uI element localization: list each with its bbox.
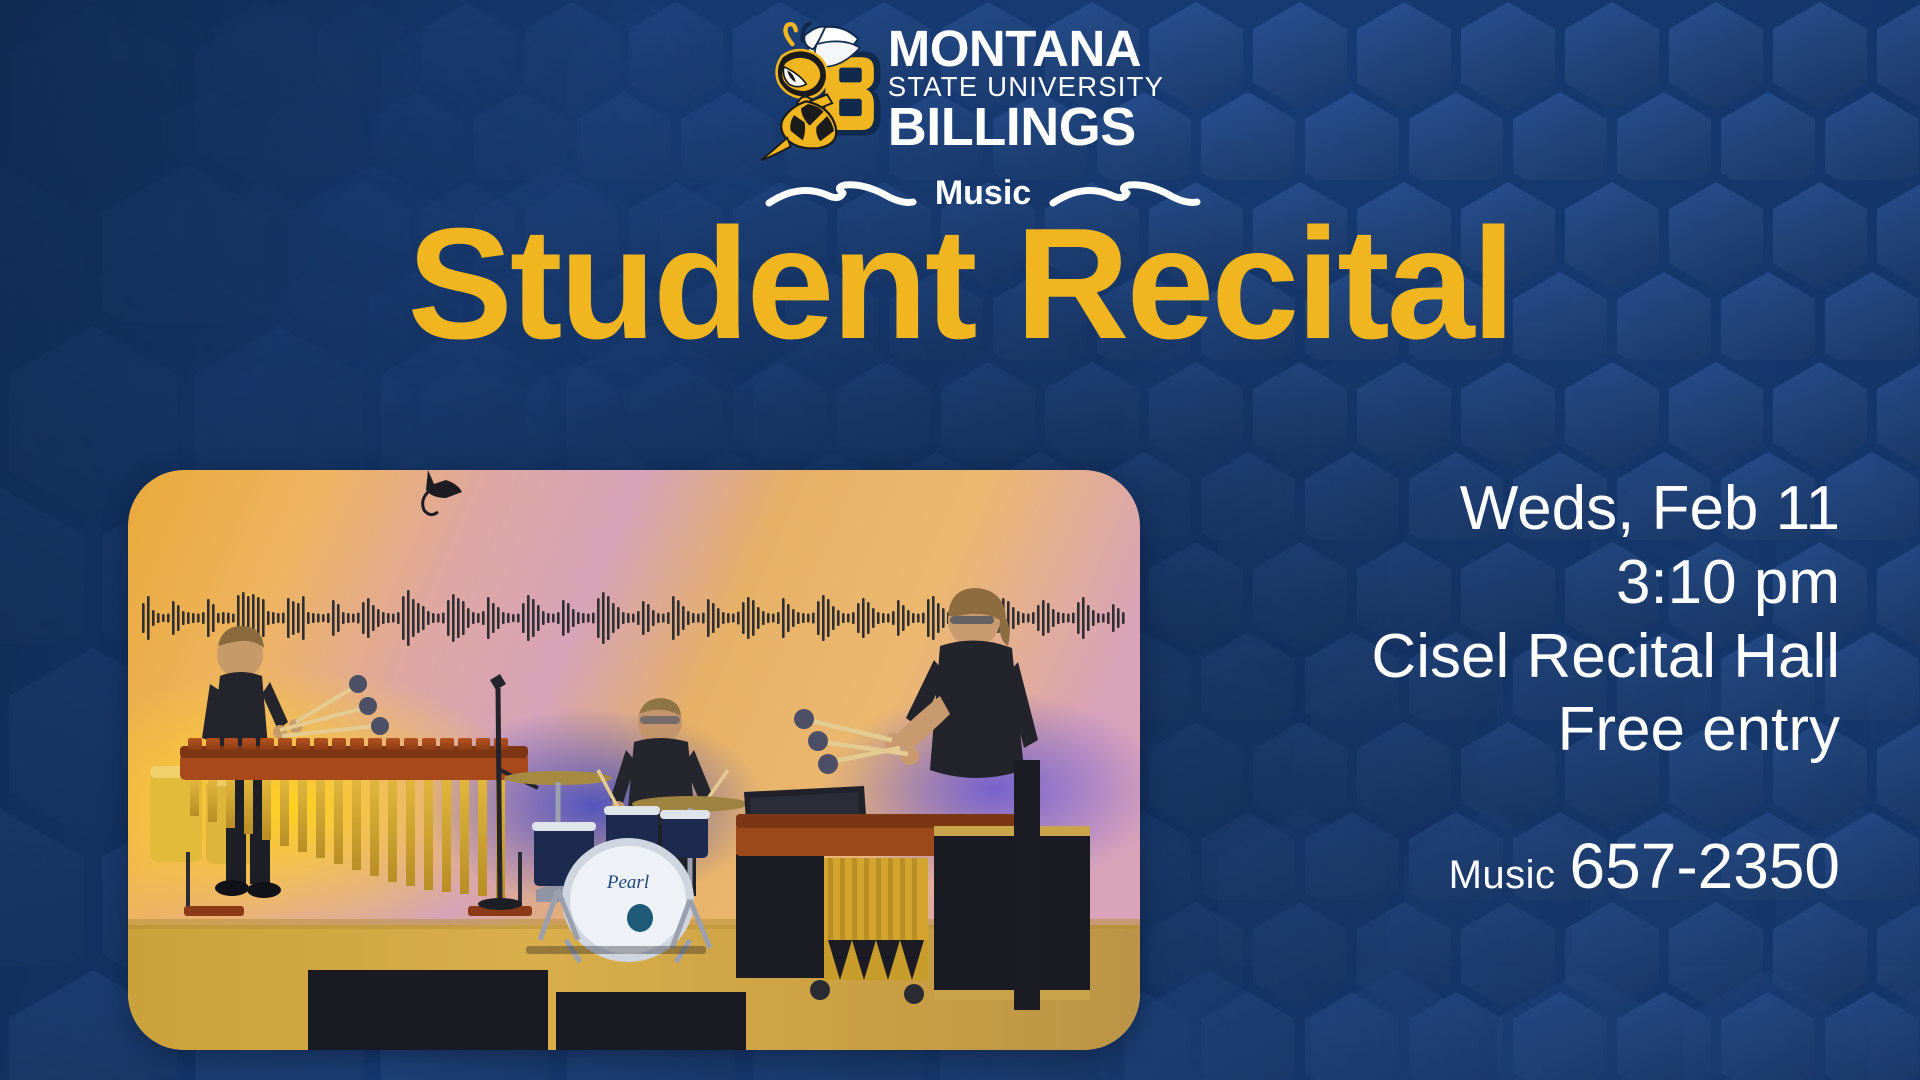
event-admission: Free entry [1220,693,1840,767]
event-details: Weds, Feb 11 3:10 pm Cisel Recital Hall … [1220,472,1840,903]
event-date: Weds, Feb 11 [1220,472,1840,546]
yellowjacket-mascot-icon [756,18,886,164]
msub-music-logo: MONTANA STATE UNIVERSITY BILLINGS Music [0,14,1920,213]
logo-line-billings: BILLINGS [888,101,1136,154]
logo-line-montana: MONTANA [888,25,1141,74]
svg-text:Pearl: Pearl [606,872,649,893]
logo-row: MONTANA STATE UNIVERSITY BILLINGS [756,14,1164,164]
recital-photo: Pearl [128,470,1140,1050]
contact-number[interactable]: 657-2350 [1570,829,1840,903]
recital-photo-image: Pearl [128,470,1140,1050]
wordmark: MONTANA STATE UNIVERSITY BILLINGS [888,25,1164,154]
contact-label: Music [1449,853,1556,898]
contact-phone: Music 657-2350 [1220,829,1840,903]
poster-canvas: MONTANA STATE UNIVERSITY BILLINGS Music … [0,0,1920,1080]
event-venue: Cisel Recital Hall [1220,620,1840,694]
poster-title: Student Recital [0,205,1920,363]
event-time: 3:10 pm [1220,546,1840,620]
